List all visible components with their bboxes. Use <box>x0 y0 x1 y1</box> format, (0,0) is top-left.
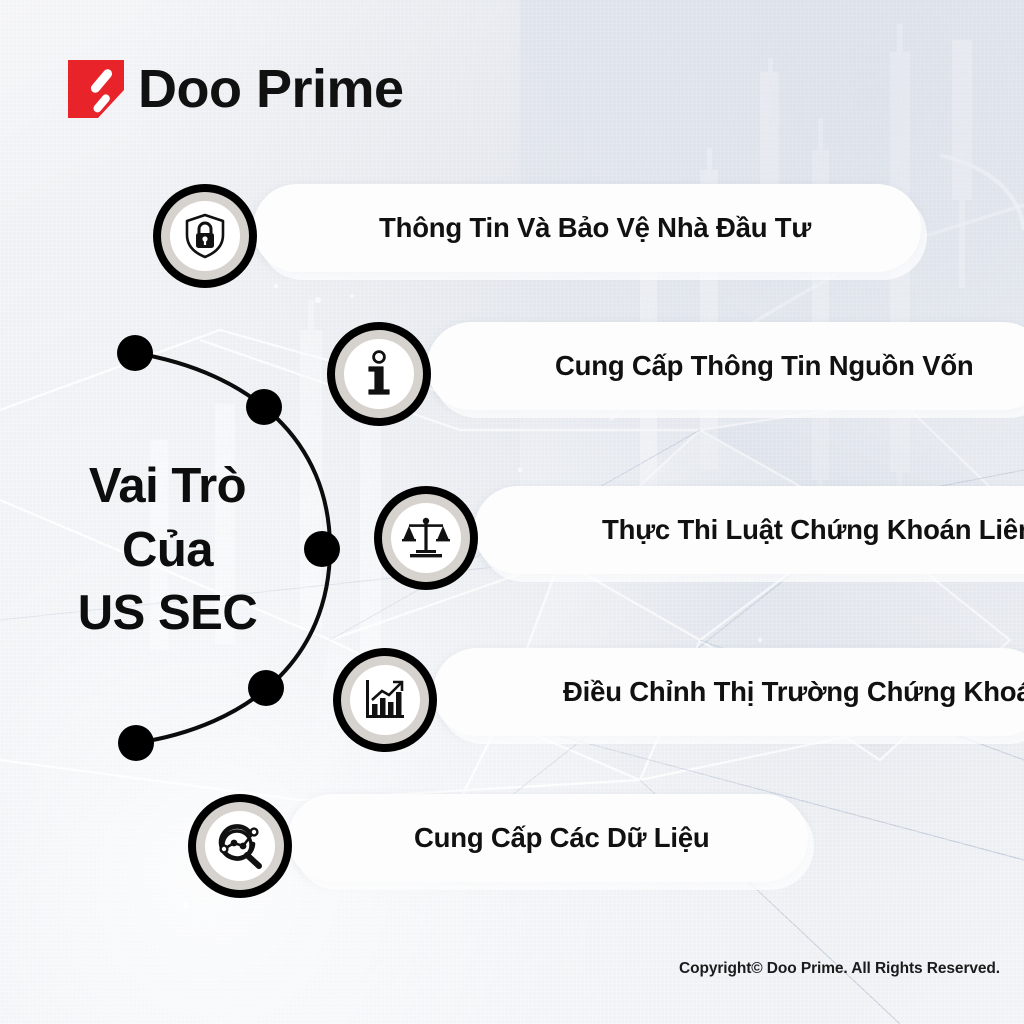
connector-node-5 <box>118 725 154 761</box>
item-icon-badge[interactable] <box>188 794 292 898</box>
icon-ring <box>335 330 423 418</box>
icon-ring <box>341 656 429 744</box>
bar-chart-growth-icon <box>350 665 420 735</box>
infographic-canvas: Doo Prime Vai Trò Của US SEC Thông Tin V… <box>0 0 1024 1024</box>
data-search-icon <box>205 811 275 881</box>
balance-scales-icon <box>391 503 461 573</box>
icon-ring <box>161 192 249 280</box>
item-icon-badge[interactable] <box>327 322 431 426</box>
connector-node-3 <box>304 531 340 567</box>
item-icon-badge[interactable] <box>333 648 437 752</box>
connector-node-2 <box>246 389 282 425</box>
item-icon-badge[interactable] <box>374 486 478 590</box>
information-icon <box>344 339 414 409</box>
shield-lock-icon <box>170 201 240 271</box>
icon-ring <box>196 802 284 890</box>
connector-arc <box>0 0 1024 1024</box>
connector-node-4 <box>248 670 284 706</box>
connector-node-1 <box>117 335 153 371</box>
item-icon-badge[interactable] <box>153 184 257 288</box>
icon-ring <box>382 494 470 582</box>
